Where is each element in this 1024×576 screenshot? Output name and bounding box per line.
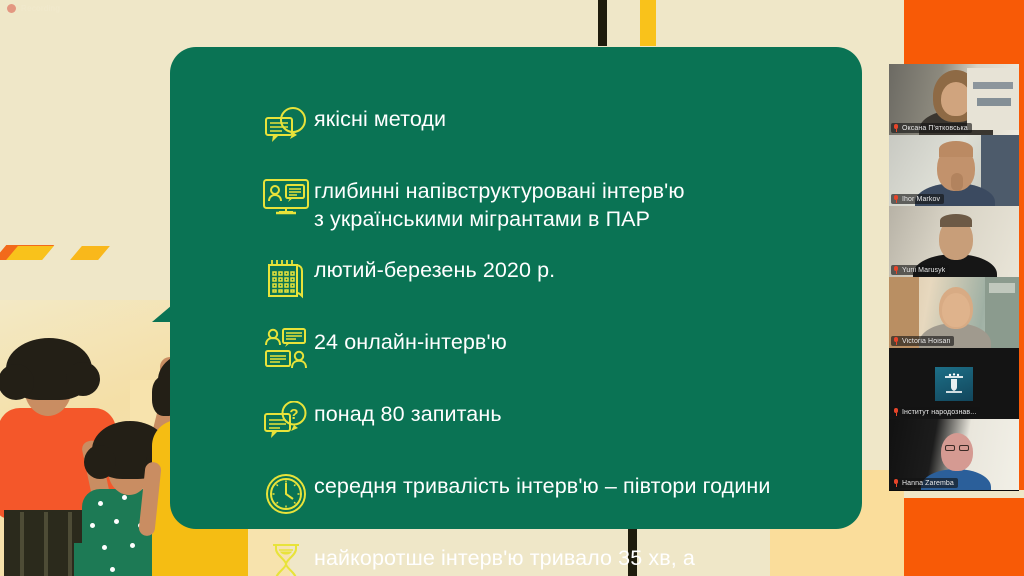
participant-label: Hanna Zaremba xyxy=(891,478,958,488)
list-item: ? понад 80 запитань xyxy=(258,394,822,450)
list-item: глибинні напівструктуровані інтерв'ю з у… xyxy=(258,171,822,234)
list-item: найкоротше інтерв'ю тривало 35 хв, а най… xyxy=(258,538,822,576)
online-interview-icon xyxy=(258,171,314,227)
participant-label: Оксана П'ятковська xyxy=(891,123,972,133)
background-yellow-slash-2 xyxy=(70,246,110,260)
list-item-label: лютий-березень 2020 р. xyxy=(314,250,555,284)
institute-logo-icon xyxy=(935,367,973,401)
list-item-label: глибинні напівструктуровані інтерв'ю з у… xyxy=(314,171,685,234)
participant-label: Yurii Marusyk xyxy=(891,265,949,275)
background-yellow-pillar xyxy=(640,0,656,46)
recording-indicator: Recording xyxy=(7,4,60,13)
participant-name: Victoria Hoisan xyxy=(902,338,950,345)
video-tile[interactable]: Оксана П'ятковська xyxy=(889,64,1019,135)
video-tile[interactable]: Hanna Zaremba xyxy=(889,419,1019,490)
background-orange-panel-lower xyxy=(904,498,1024,576)
video-tile[interactable]: Інститут народознав... xyxy=(889,348,1019,419)
speech-bubbles-icon xyxy=(258,99,314,155)
list-item-label: середня тривалість інтерв'ю – півтори го… xyxy=(314,466,771,500)
calendar-icon xyxy=(258,250,314,306)
recording-label: Recording xyxy=(21,4,60,13)
list-item: лютий-березень 2020 р. xyxy=(258,250,822,306)
clock-icon xyxy=(258,466,314,522)
participant-label: Інститут народознав... xyxy=(891,407,980,417)
background-dark-pillar-top xyxy=(598,0,607,46)
mic-muted-icon xyxy=(893,266,899,274)
slide-bullet-list: якісні методи глибинні нап xyxy=(258,87,822,576)
mic-muted-icon xyxy=(893,479,899,487)
mic-muted-icon xyxy=(893,408,899,416)
participant-label: Victoria Hoisan xyxy=(891,336,954,346)
list-item: якісні методи xyxy=(258,99,822,155)
record-dot-icon xyxy=(7,4,16,13)
slide-card: якісні методи глибинні нап xyxy=(170,47,862,529)
participant-name: Yurii Marusyk xyxy=(902,267,945,274)
participant-video-strip[interactable]: Оксана П'ятковська Ihor Markov xyxy=(889,64,1019,491)
participant-name: Інститут народознав... xyxy=(902,409,976,416)
hourglass-icon xyxy=(258,538,314,576)
participant-label: Ihor Markov xyxy=(891,194,944,204)
interview-people-icon xyxy=(258,322,314,378)
list-item-label: 24 онлайн-інтерв'ю xyxy=(314,322,507,356)
list-item-label: понад 80 запитань xyxy=(314,394,502,428)
screen-share-slide: Recording якісні методи xyxy=(0,0,1024,576)
participant-name: Ihor Markov xyxy=(902,196,940,203)
participant-name: Hanna Zaremba xyxy=(902,480,954,487)
mic-muted-icon xyxy=(893,337,899,345)
mic-muted-icon xyxy=(893,124,899,132)
video-tile-active-speaker[interactable]: Victoria Hoisan xyxy=(889,277,1019,348)
list-item: середня тривалість інтерв'ю – півтори го… xyxy=(258,466,822,522)
mic-muted-icon xyxy=(893,195,899,203)
list-item-label: найкоротше інтерв'ю тривало 35 хв, а най… xyxy=(314,538,695,576)
video-tile[interactable]: Ihor Markov xyxy=(889,135,1019,206)
list-item: 24 онлайн-інтерв'ю xyxy=(258,322,822,378)
participant-name: Оксана П'ятковська xyxy=(902,125,968,132)
list-item-label: якісні методи xyxy=(314,99,446,133)
question-bubble-icon: ? xyxy=(258,394,314,450)
video-tile[interactable]: Yurii Marusyk xyxy=(889,206,1019,277)
